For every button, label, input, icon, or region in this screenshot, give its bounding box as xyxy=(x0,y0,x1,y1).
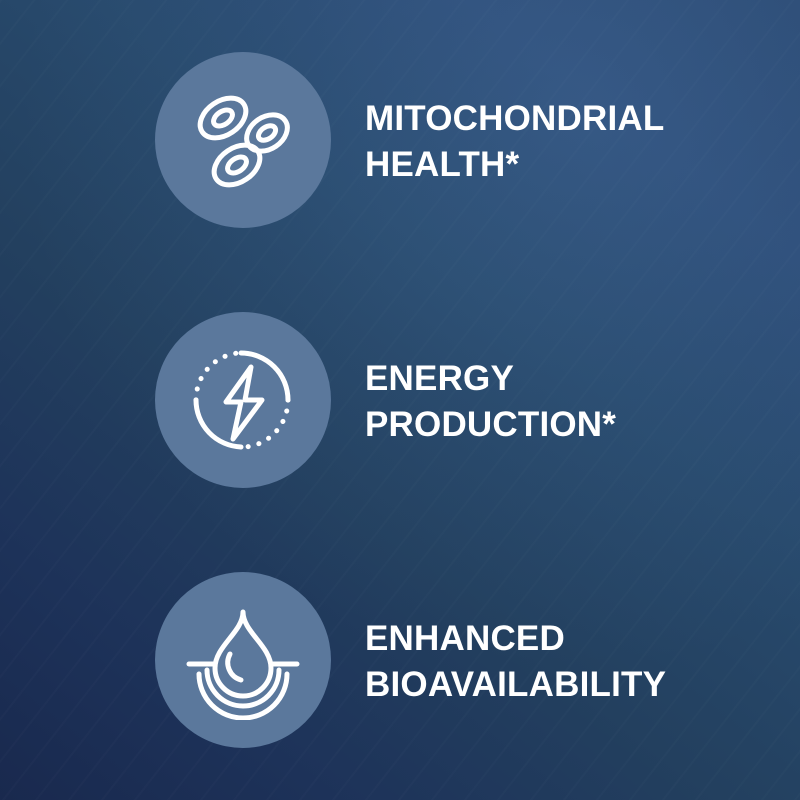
benefit-label-energy-production: ENERGY PRODUCTION* xyxy=(365,356,775,448)
mitochondria-cells-icon xyxy=(183,80,303,200)
benefit-row: ENERGY PRODUCTION* xyxy=(0,312,800,492)
icon-badge-energy-production xyxy=(155,312,331,488)
lightning-bolt-circle-icon xyxy=(183,340,303,460)
benefit-label-mitochondrial-health: MITOCHONDRIAL HEALTH* xyxy=(365,96,775,188)
benefits-panel: MITOCHONDRIAL HEALTH* ENERGY PRODU xyxy=(0,0,800,800)
benefit-row: MITOCHONDRIAL HEALTH* xyxy=(0,52,800,232)
benefit-label-enhanced-bioavailability: ENHANCED BIOAVAILABILITY xyxy=(365,616,775,708)
benefit-row: ENHANCED BIOAVAILABILITY xyxy=(0,572,800,752)
icon-badge-enhanced-bioavailability xyxy=(155,572,331,748)
icon-badge-mitochondrial-health xyxy=(155,52,331,228)
water-droplet-ripple-icon xyxy=(183,600,303,720)
